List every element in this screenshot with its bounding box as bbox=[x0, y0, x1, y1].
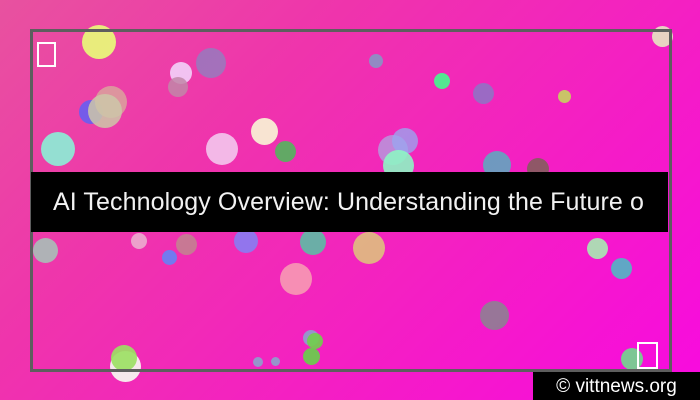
page-title: AI Technology Overview: Understanding th… bbox=[31, 190, 644, 215]
marker-bottom-right bbox=[637, 342, 658, 369]
title-banner: AI Technology Overview: Understanding th… bbox=[31, 172, 668, 232]
decorative-bubble bbox=[307, 333, 323, 349]
decorative-bubble bbox=[206, 133, 238, 165]
decorative-bubble bbox=[162, 250, 177, 265]
decorative-bubble bbox=[300, 229, 326, 255]
decorative-bubble bbox=[82, 25, 116, 59]
decorative-bubble bbox=[253, 357, 263, 367]
watermark-text: © vittnews.org bbox=[556, 377, 677, 396]
decorative-bubble bbox=[41, 132, 75, 166]
marker-top-left bbox=[37, 42, 56, 67]
decorative-bubble bbox=[611, 258, 632, 279]
decorative-bubble bbox=[369, 54, 383, 68]
decorative-bubble bbox=[234, 229, 258, 253]
decorative-bubble bbox=[251, 118, 278, 145]
decorative-bubble bbox=[271, 357, 280, 366]
decorative-bubble bbox=[480, 301, 509, 330]
decorative-bubble bbox=[353, 232, 385, 264]
decorative-bubble bbox=[131, 233, 147, 249]
decorative-bubble bbox=[280, 263, 312, 295]
decorative-bubble bbox=[33, 238, 58, 263]
decorative-bubble bbox=[434, 73, 450, 89]
decorative-bubble bbox=[587, 238, 608, 259]
decorative-bubble bbox=[558, 90, 571, 103]
decorative-bubble bbox=[88, 94, 122, 128]
decorative-bubble bbox=[275, 141, 296, 162]
decorative-bubble bbox=[473, 83, 494, 104]
decorative-bubble bbox=[196, 48, 226, 78]
decorative-bubble bbox=[652, 26, 673, 47]
decorative-bubble bbox=[176, 234, 197, 255]
site-watermark: © vittnews.org bbox=[533, 372, 700, 400]
decorative-bubble bbox=[303, 348, 320, 365]
decorative-bubble bbox=[168, 77, 188, 97]
decorative-bubble bbox=[111, 345, 137, 371]
promo-banner-canvas: AI Technology Overview: Understanding th… bbox=[0, 0, 700, 400]
